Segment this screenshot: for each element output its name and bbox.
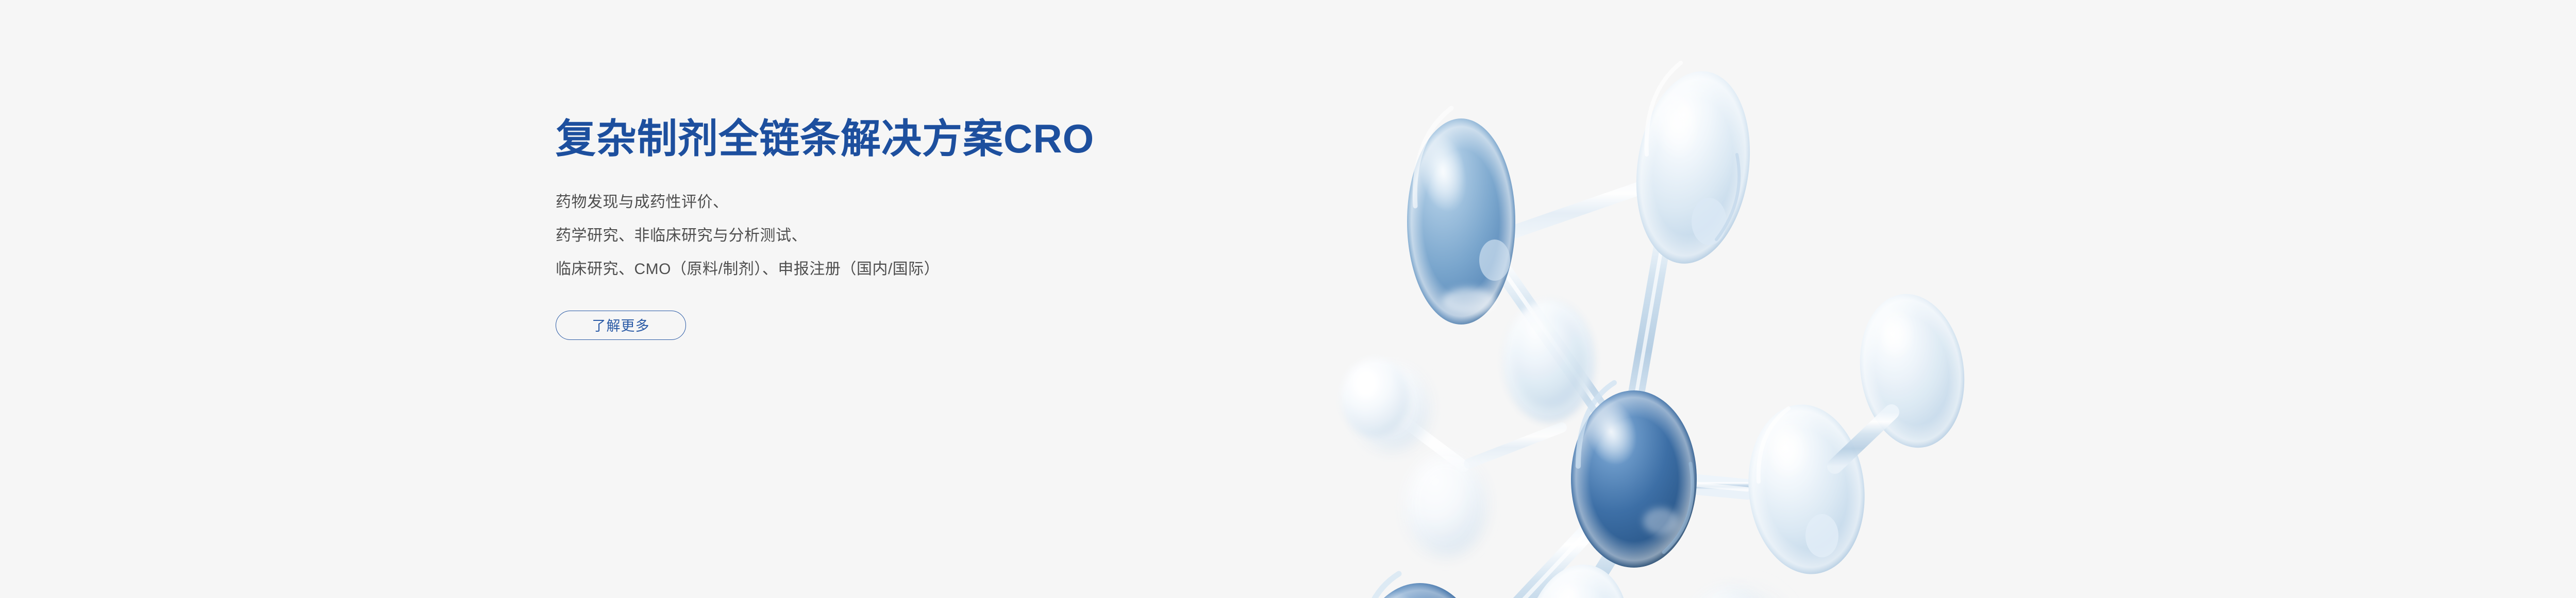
page-title: 复杂制剂全链条解决方案CRO — [556, 118, 1432, 159]
hero-subtitle-list: 药物发现与成药性评价、 药学研究、非临床研究与分析测试、 临床研究、CMO（原料… — [556, 185, 1432, 286]
cta-wrapper: 了解更多 — [556, 311, 1432, 340]
hero-banner: 复杂制剂全链条解决方案CRO 药物发现与成药性评价、 药学研究、非临床研究与分析… — [0, 0, 2576, 598]
molecule-background-spheres — [1354, 365, 1769, 598]
sphere-far-left-frosted — [1341, 358, 1409, 437]
sphere-right-clear — [1740, 399, 1872, 580]
hero-subtitle-line-3: 临床研究、CMO（原料/制剂）、申报注册（国内/国际） — [556, 252, 1432, 286]
hero-subtitle-line-1: 药物发现与成药性评价、 — [556, 185, 1432, 219]
sphere-bottom-clear — [1515, 556, 1640, 598]
sphere-top-clear — [1625, 63, 1762, 271]
sphere-upper-right-partial — [1850, 287, 1974, 455]
molecule-midground-spheres — [1503, 300, 1594, 421]
sphere-center-deep-blue — [1571, 383, 1697, 568]
sphere-lower-left-deep-blue — [1354, 574, 1486, 598]
hero-copy: 复杂制剂全链条解决方案CRO 药物发现与成药性评价、 药学研究、非临床研究与分析… — [556, 118, 1432, 340]
hero-subtitle-line-2: 药学研究、非临床研究与分析测试、 — [556, 219, 1432, 252]
learn-more-button[interactable]: 了解更多 — [556, 311, 686, 340]
molecule-bonds — [1392, 170, 1747, 598]
